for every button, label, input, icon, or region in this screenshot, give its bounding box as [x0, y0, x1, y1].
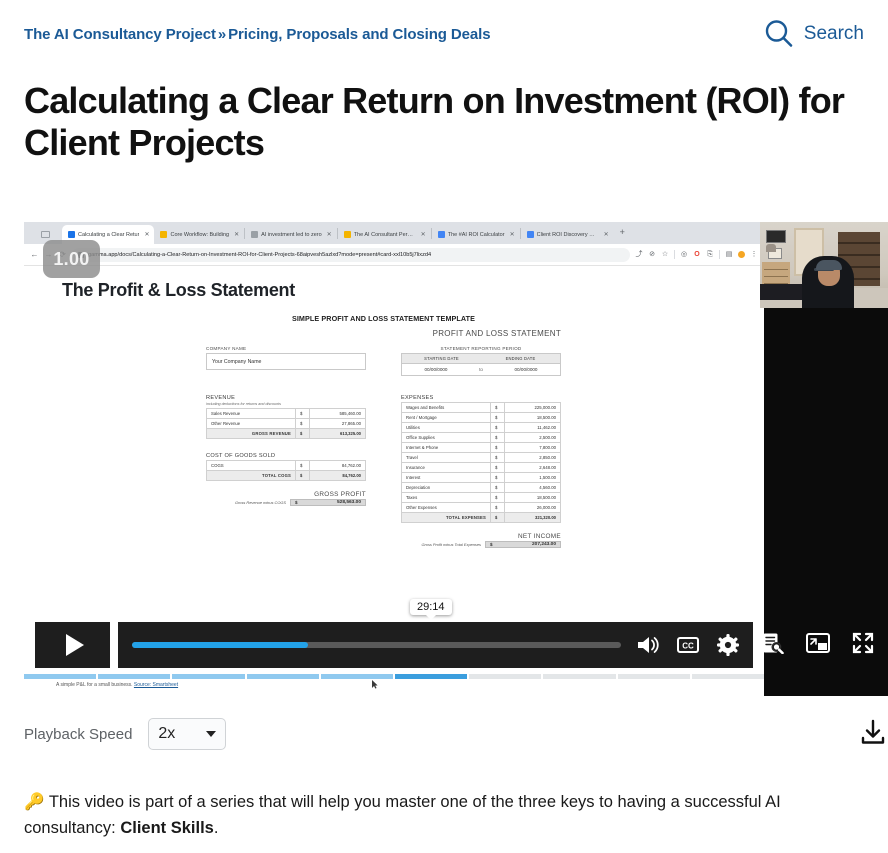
row-value: 11,462.00: [505, 423, 561, 433]
breadcrumb: The AI Consultancy Project»Pricing, Prop…: [24, 26, 490, 43]
table-row: Internet & Phone$7,800.00: [402, 443, 561, 453]
reading-list-icon[interactable]: ▤: [725, 251, 733, 259]
net-income-heading: NET INCOME: [401, 533, 561, 540]
row-label: Other Expenses: [402, 503, 491, 513]
table-row: COGS $ 84,762.00: [207, 461, 366, 471]
total-label: TOTAL COGS: [207, 471, 296, 481]
gross-profit-value-box: $ 528,563.00: [290, 499, 366, 506]
settings-gear-icon[interactable]: [717, 634, 739, 656]
revenue-section: REVENUE including deductions for returns…: [206, 395, 366, 439]
webcam-lamp: [766, 244, 776, 252]
breadcrumb-root-link[interactable]: The AI Consultancy Project: [24, 26, 216, 43]
row-label: Office Supplies: [402, 433, 491, 443]
row-label: Internet & Phone: [402, 443, 491, 453]
row-label: Travel: [402, 453, 491, 463]
address-bar-url: gamma.app/docs/Calculating-a-Clear-Retur…: [88, 252, 431, 258]
footer-bold-text: Client Skills: [120, 819, 214, 837]
chapter-segment[interactable]: [321, 674, 393, 679]
playback-speed-label: Playback Speed: [24, 726, 132, 743]
browser-tab[interactable]: The #AI ROI Calculator ✕: [432, 225, 520, 244]
row-label: Insurance: [402, 463, 491, 473]
table-row: Insurance$2,648.00: [402, 463, 561, 473]
tab-favicon-icon: [344, 231, 351, 238]
tab-close-icon[interactable]: ✕: [421, 231, 426, 238]
video-player[interactable]: Calculating a Clear Retur ✕ Core Workflo…: [24, 222, 888, 696]
breadcrumb-separator: »: [216, 26, 228, 43]
row-label: Taxes: [402, 493, 491, 503]
table-row: Office Supplies$2,500.00: [402, 433, 561, 443]
row-value: 2,850.00: [505, 453, 561, 463]
chapter-segment[interactable]: [618, 674, 690, 679]
control-icon-group-right: [762, 622, 874, 668]
breadcrumb-current-link[interactable]: Pricing, Proposals and Closing Deals: [228, 26, 490, 43]
net-income-value-box: $ 207,243.00: [485, 541, 561, 548]
total-label: GROSS REVENUE: [207, 429, 296, 439]
row-value: 27,865.00: [310, 419, 366, 429]
new-tab-button[interactable]: +: [614, 227, 631, 239]
tab-label: Core Workflow: Building: [170, 232, 229, 238]
slide-footer-text: A simple P&L for a small business.: [56, 682, 133, 688]
expenses-table: Wages and Benefits$225,000.00 Rent / Mor…: [401, 402, 561, 523]
row-label: Utilities: [402, 423, 491, 433]
total-value: 613,325.00: [310, 429, 366, 439]
table-row: Depreciation$4,560.00: [402, 483, 561, 493]
table-total-row: TOTAL COGS $ 84,762.00: [207, 471, 366, 481]
tab-label: The #AI ROI Calculator: [448, 232, 505, 238]
webcam-overlay: [760, 222, 888, 308]
cogs-heading: COST OF GOODS SOLD: [206, 453, 366, 459]
picture-in-picture-icon[interactable]: [806, 633, 830, 658]
tab-close-icon[interactable]: ✕: [604, 231, 609, 238]
seek-region[interactable]: 29:14 CC: [118, 622, 753, 668]
row-currency: $: [491, 403, 505, 413]
tab-close-icon[interactable]: ✕: [327, 231, 332, 238]
chrome-menu-icon[interactable]: ⋮: [750, 251, 758, 259]
row-currency: $: [491, 473, 505, 483]
period-table-head: STARTING DATE ENDING DATE: [402, 354, 560, 364]
total-currency: $: [296, 471, 310, 481]
toolbar-divider: [674, 250, 675, 259]
clipboard-icon[interactable]: ⎘: [706, 251, 714, 259]
gross-profit-block: GROSS PROFIT Gross Revenue minus COGS $ …: [206, 491, 366, 506]
chapter-segment[interactable]: [172, 674, 244, 679]
chapter-segment-current[interactable]: [395, 674, 467, 679]
table-row: Interest$1,500.00: [402, 473, 561, 483]
playback-speed-select[interactable]: 2x: [148, 718, 226, 750]
cogs-section: COST OF GOODS SOLD COGS $ 84,762.00 TOTA…: [206, 453, 366, 481]
play-icon: [66, 634, 84, 656]
row-label: Rent / Mortgage: [402, 413, 491, 423]
row-currency: $: [491, 483, 505, 493]
speed-indicator-badge: 1.00: [43, 240, 100, 278]
webcam-wall-picture: [766, 230, 786, 243]
tab-favicon-icon: [68, 231, 75, 238]
download-icon: [858, 717, 888, 747]
period-to-label: to: [470, 364, 492, 375]
browser-toolbar: ← → ⟳ gamma.app/docs/Calculating-a-Clear…: [24, 244, 764, 266]
table-row: Other Expenses$26,000.00: [402, 503, 561, 513]
left-column: REVENUE including deductions for returns…: [206, 386, 366, 506]
slide-footer-source-link[interactable]: Source: Smartsheet: [134, 682, 178, 688]
playback-speed-row: Playback Speed 2x: [24, 712, 888, 756]
table-total-row: TOTAL EXPENSES $ 321,320.00: [402, 513, 561, 523]
slide-footer-note: A simple P&L for a small business. Sourc…: [56, 682, 178, 688]
search-button[interactable]: Search: [762, 17, 864, 51]
reporting-period-table: STARTING DATE ENDING DATE 00/00/0000 to …: [401, 353, 561, 376]
browser-tab-strip: Calculating a Clear Retur ✕ Core Workflo…: [24, 222, 764, 244]
table-total-row: GROSS REVENUE $ 613,325.00: [207, 429, 366, 439]
browser-tab[interactable]: Client ROI Discovery Que ✕: [521, 225, 614, 244]
captions-icon[interactable]: CC: [677, 636, 699, 654]
row-value: 225,000.00: [505, 403, 561, 413]
profit-loss-sheet: SIMPLE PROFIT AND LOSS STATEMENT TEMPLAT…: [206, 314, 561, 548]
total-value: 321,320.00: [505, 513, 561, 523]
seek-progress-fill: [132, 642, 308, 648]
tab-favicon-icon: [438, 231, 445, 238]
row-currency: $: [491, 423, 505, 433]
tab-label: AI investment led to zero: [261, 232, 322, 238]
row-value: 18,500.00: [505, 413, 561, 423]
address-bar[interactable]: gamma.app/docs/Calculating-a-Clear-Retur…: [72, 248, 630, 262]
chevron-down-icon: [206, 731, 216, 737]
net-income-value: 207,243.00: [493, 542, 556, 547]
seek-bar[interactable]: [132, 642, 621, 648]
back-icon[interactable]: ←: [30, 250, 39, 259]
revenue-table: Sales Revenue $ 585,460.00 Other Revenue…: [206, 408, 366, 439]
chapter-segment[interactable]: [692, 674, 764, 679]
net-income-row: Gross Profit minus Total Expenses $ 207,…: [401, 541, 561, 548]
slide-title: The Profit & Loss Statement: [62, 280, 295, 301]
row-currency: $: [491, 453, 505, 463]
download-button[interactable]: [858, 717, 888, 752]
tab-search-icon: [41, 231, 50, 238]
table-row: Utilities$11,462.00: [402, 423, 561, 433]
revenue-subnote: including deductions for returns and dis…: [206, 402, 366, 406]
fullscreen-icon[interactable]: [852, 632, 874, 659]
no-camera-icon[interactable]: ⊘: [648, 251, 656, 259]
row-label: Depreciation: [402, 483, 491, 493]
table-row: Taxes$18,500.00: [402, 493, 561, 503]
net-income-block: NET INCOME Gross Profit minus Total Expe…: [401, 533, 561, 548]
row-currency: $: [296, 419, 310, 429]
control-icon-group-left: CC: [637, 634, 739, 656]
row-value: 2,648.00: [505, 463, 561, 473]
total-label: TOTAL EXPENSES: [402, 513, 491, 523]
search-icon: [762, 17, 796, 51]
tab-close-icon[interactable]: ✕: [144, 231, 149, 238]
table-row: Other Revenue $ 27,865.00: [207, 419, 366, 429]
company-name-block: COMPANY NAME Your Company Name: [206, 346, 366, 376]
expenses-heading: EXPENSES: [401, 395, 561, 401]
chapter-segment[interactable]: [98, 674, 170, 679]
right-column: EXPENSES Wages and Benefits$225,000.00 R…: [401, 386, 561, 548]
table-row: Wages and Benefits$225,000.00: [402, 403, 561, 413]
chapter-segment[interactable]: [543, 674, 615, 679]
opera-extension-icon[interactable]: O: [693, 251, 701, 259]
sheet-subtitle: PROFIT AND LOSS STATEMENT: [206, 329, 561, 338]
chapter-segment[interactable]: [469, 674, 541, 679]
ending-date-value: 00/00/0000: [492, 364, 560, 375]
browser-tab[interactable]: AI investment led to zero ✕: [245, 225, 337, 244]
player-controls: 29:14 CC: [35, 622, 753, 668]
profile-avatar[interactable]: [738, 251, 745, 258]
tab-close-icon[interactable]: ✕: [234, 231, 239, 238]
page-title: Calculating a Clear Return on Investment…: [24, 80, 874, 165]
sheet-header-row: COMPANY NAME Your Company Name STATEMENT…: [206, 346, 561, 376]
share-icon[interactable]: ⤴: [635, 251, 643, 259]
row-currency: $: [296, 409, 310, 419]
row-value: 585,460.00: [310, 409, 366, 419]
row-label: COGS: [207, 461, 296, 471]
row-value: 7,800.00: [505, 443, 561, 453]
page-root: The AI Consultancy Project»Pricing, Prop…: [0, 0, 888, 853]
tab-close-icon[interactable]: ✕: [510, 231, 515, 238]
row-label: Sales Revenue: [207, 409, 296, 419]
company-name-label: COMPANY NAME: [206, 346, 366, 351]
toolbar-divider: [719, 250, 720, 259]
row-currency: $: [491, 433, 505, 443]
row-currency: $: [296, 461, 310, 471]
starting-date-value: 00/00/0000: [402, 364, 470, 375]
table-row: Rent / Mortgage$18,500.00: [402, 413, 561, 423]
row-currency: $: [491, 503, 505, 513]
browser-tab[interactable]: The AI Consultant Person ✕: [338, 225, 431, 244]
row-currency: $: [491, 463, 505, 473]
ending-date-label: ENDING DATE: [481, 354, 560, 363]
search-label: Search: [804, 23, 864, 45]
tab-favicon-icon: [527, 231, 534, 238]
chapter-segment[interactable]: [247, 674, 319, 679]
tab-label: The AI Consultant Person: [354, 232, 416, 238]
row-value: 18,500.00: [505, 493, 561, 503]
webcam-cap: [816, 260, 842, 270]
row-currency: $: [491, 413, 505, 423]
webcam-desk: [760, 284, 806, 300]
row-value: 26,000.00: [505, 503, 561, 513]
row-value: 2,500.00: [505, 433, 561, 443]
total-currency: $: [296, 429, 310, 439]
tab-label: Calculating a Clear Retur: [78, 232, 139, 238]
total-currency: $: [491, 513, 505, 523]
row-label: Other Revenue: [207, 419, 296, 429]
gross-profit-row: Gross Revenue minus COGS $ 528,563.00: [206, 499, 366, 506]
row-currency: $: [491, 443, 505, 453]
expenses-section: EXPENSES Wages and Benefits$225,000.00 R…: [401, 395, 561, 523]
gross-profit-value: 528,563.00: [298, 500, 361, 505]
volume-icon[interactable]: [637, 635, 659, 655]
footer-text-after: .: [214, 819, 219, 837]
browser-toolbar-icons: ⤴ ⊘ ☆ ◎ O ⎘ ▤ ⋮: [635, 250, 758, 259]
extension-icon[interactable]: ◎: [680, 251, 688, 259]
chapter-segment[interactable]: [24, 674, 96, 679]
gross-profit-heading: GROSS PROFIT: [206, 491, 366, 498]
top-bar: The AI Consultancy Project»Pricing, Prop…: [0, 0, 888, 68]
company-name-field: Your Company Name: [206, 353, 366, 370]
reporting-period-block: STATEMENT REPORTING PERIOD STARTING DATE…: [401, 346, 561, 376]
row-label: Interest: [402, 473, 491, 483]
transcript-search-icon[interactable]: [762, 632, 784, 659]
gross-profit-note: Gross Revenue minus COGS: [206, 500, 290, 505]
table-row: Travel$2,850.00: [402, 453, 561, 463]
seek-time-tooltip: 29:14: [410, 599, 452, 615]
row-currency: $: [491, 493, 505, 503]
cogs-table: COGS $ 84,762.00 TOTAL COGS $ 84,762.00: [206, 460, 366, 481]
reporting-period-label: STATEMENT REPORTING PERIOD: [401, 346, 561, 351]
row-label: Wages and Benefits: [402, 403, 491, 413]
playback-speed-value: 2x: [158, 725, 175, 743]
revenue-heading: REVENUE: [206, 395, 366, 401]
browser-tab[interactable]: Core Workflow: Building ✕: [154, 225, 244, 244]
footer-description: 🔑 This video is part of a series that wi…: [24, 790, 870, 841]
key-icon: 🔑: [24, 793, 45, 811]
row-value: 84,762.00: [310, 461, 366, 471]
sheet-title: SIMPLE PROFIT AND LOSS STATEMENT TEMPLAT…: [206, 314, 561, 323]
total-value: 84,762.00: [310, 471, 366, 481]
starting-date-label: STARTING DATE: [402, 354, 481, 363]
row-value: 4,560.00: [505, 483, 561, 493]
period-table-row: 00/00/0000 to 00/00/0000: [402, 364, 560, 375]
row-value: 1,500.00: [505, 473, 561, 483]
bookmark-star-icon[interactable]: ☆: [661, 251, 669, 259]
net-income-note: Gross Profit minus Total Expenses: [401, 542, 485, 547]
tab-favicon-icon: [160, 231, 167, 238]
tab-label: Client ROI Discovery Que: [537, 232, 599, 238]
chapter-progress-bar[interactable]: [24, 674, 764, 679]
svg-text:CC: CC: [682, 642, 694, 651]
table-row: Sales Revenue $ 585,460.00: [207, 409, 366, 419]
play-button[interactable]: [35, 622, 110, 668]
tab-favicon-icon: [251, 231, 258, 238]
